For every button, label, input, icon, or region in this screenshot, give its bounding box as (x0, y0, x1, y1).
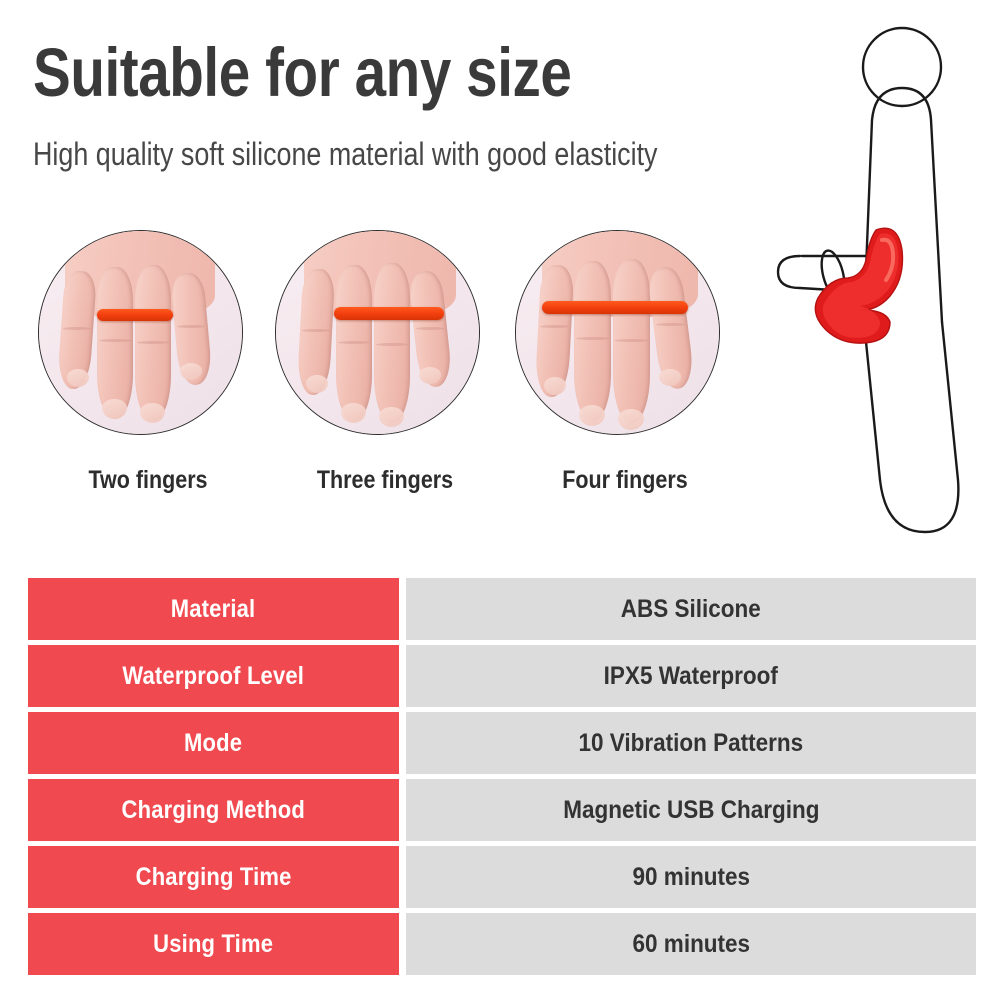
spec-label-text: Waterproof Level (123, 662, 305, 691)
spec-label-cell: Mode (28, 712, 399, 774)
device-shape (815, 228, 902, 343)
spec-label-text: Charging Time (136, 863, 292, 892)
spec-label-text: Charging Method (122, 796, 306, 825)
hand-with-ring-photo (276, 231, 479, 434)
circle-outline-icon (863, 28, 941, 106)
size-demo-label: Two fingers (53, 466, 242, 495)
size-demo-item-three-fingers: Three fingers (275, 230, 495, 435)
spec-value-text: IPX5 Waterproof (604, 662, 778, 691)
size-demo-item-two-fingers: Two fingers (38, 230, 258, 435)
column-gap (399, 578, 406, 640)
spec-label-cell: Charging Method (28, 779, 399, 841)
column-gap (399, 913, 406, 975)
silicone-ring (334, 307, 444, 320)
spec-value-cell: 90 minutes (406, 846, 976, 908)
table-row: Using Time 60 minutes (28, 913, 976, 975)
table-row: Charging Method Magnetic USB Charging (28, 779, 976, 841)
spec-label-cell: Waterproof Level (28, 645, 399, 707)
finger-photo-circle (275, 230, 480, 435)
size-demo-group: Two fingers (0, 230, 740, 520)
spec-value-text: ABS Silicone (621, 595, 761, 624)
spec-label-cell: Charging Time (28, 846, 399, 908)
table-row: Charging Time 90 minutes (28, 846, 976, 908)
spec-value-cell: 10 Vibration Patterns (406, 712, 976, 774)
spec-value-cell: IPX5 Waterproof (406, 645, 976, 707)
product-infographic-page: Suitable for any size High quality soft … (0, 0, 1000, 1000)
spec-value-cell: Magnetic USB Charging (406, 779, 976, 841)
spec-label-text: Material (171, 595, 256, 624)
spec-label-text: Using Time (154, 930, 274, 959)
spec-value-cell: ABS Silicone (406, 578, 976, 640)
silicone-ring (97, 309, 173, 321)
column-gap (399, 645, 406, 707)
silicone-ring (542, 301, 688, 314)
column-gap (399, 846, 406, 908)
spec-label-cell: Using Time (28, 913, 399, 975)
spec-label-text: Mode (184, 729, 242, 758)
spec-value-text: 60 minutes (632, 930, 750, 959)
spec-value-text: 90 minutes (632, 863, 750, 892)
spec-value-text: Magnetic USB Charging (563, 796, 819, 825)
table-row: Material ABS Silicone (28, 578, 976, 640)
spec-label-cell: Material (28, 578, 399, 640)
page-subtitle: High quality soft silicone material with… (33, 138, 658, 170)
column-gap (399, 779, 406, 841)
table-row: Mode 10 Vibration Patterns (28, 712, 976, 774)
table-row: Waterproof Level IPX5 Waterproof (28, 645, 976, 707)
finger-photo-circle (38, 230, 243, 435)
hand-with-ring-photo (516, 231, 719, 434)
column-gap (399, 712, 406, 774)
finger-photo-circle (515, 230, 720, 435)
hand-with-ring-photo (39, 231, 242, 434)
spec-value-text: 10 Vibration Patterns (579, 729, 804, 758)
lower-body-outline (864, 322, 958, 532)
size-demo-label: Four fingers (530, 466, 719, 495)
page-title: Suitable for any size (33, 38, 571, 107)
specification-table: Material ABS Silicone Waterproof Level I… (28, 578, 976, 980)
size-demo-label: Three fingers (290, 466, 479, 495)
size-demo-item-four-fingers: Four fingers (515, 230, 735, 435)
spec-value-cell: 60 minutes (406, 913, 976, 975)
